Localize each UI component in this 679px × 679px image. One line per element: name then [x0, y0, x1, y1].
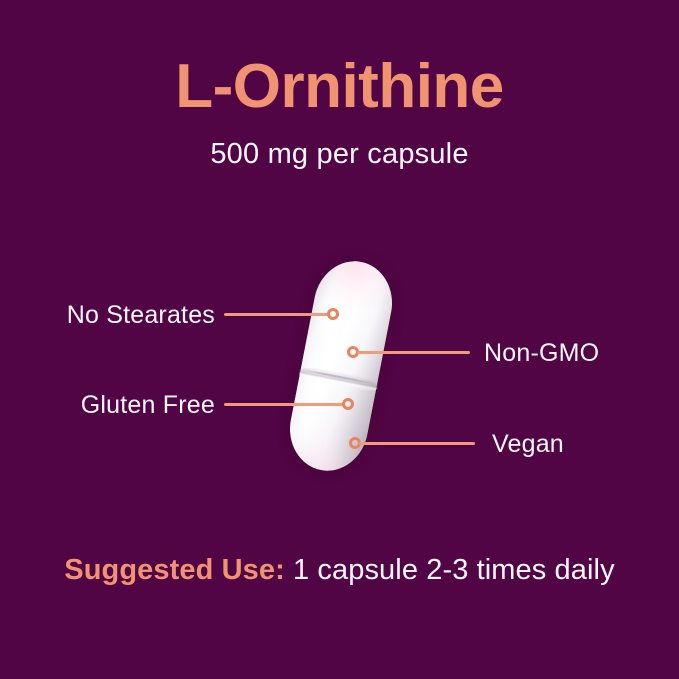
- leader-line-no-stearates: [224, 313, 330, 316]
- product-dosage-subtitle: 500 mg per capsule: [0, 137, 679, 171]
- suggested-use: Suggested Use: 1 capsule 2-3 times daily: [0, 552, 679, 588]
- suggested-use-value: 1 capsule 2-3 times daily: [285, 554, 615, 586]
- leader-dot-no-stearates: [327, 308, 339, 320]
- leader-line-non-gmo: [357, 351, 470, 354]
- callout-label-vegan: Vegan: [492, 429, 642, 459]
- callout-label-non-gmo: Non-GMO: [484, 338, 644, 368]
- callout-label-no-stearates: No Stearates: [55, 300, 215, 330]
- suggested-use-label: Suggested Use:: [64, 554, 285, 586]
- leader-line-gluten-free: [224, 403, 345, 406]
- product-infographic: L-Ornithine 500 mg per capsule No Steara…: [0, 0, 679, 679]
- leader-dot-gluten-free: [342, 398, 354, 410]
- product-title: L-Ornithine: [0, 53, 679, 121]
- callout-label-gluten-free: Gluten Free: [75, 390, 215, 420]
- leader-line-vegan: [359, 442, 475, 445]
